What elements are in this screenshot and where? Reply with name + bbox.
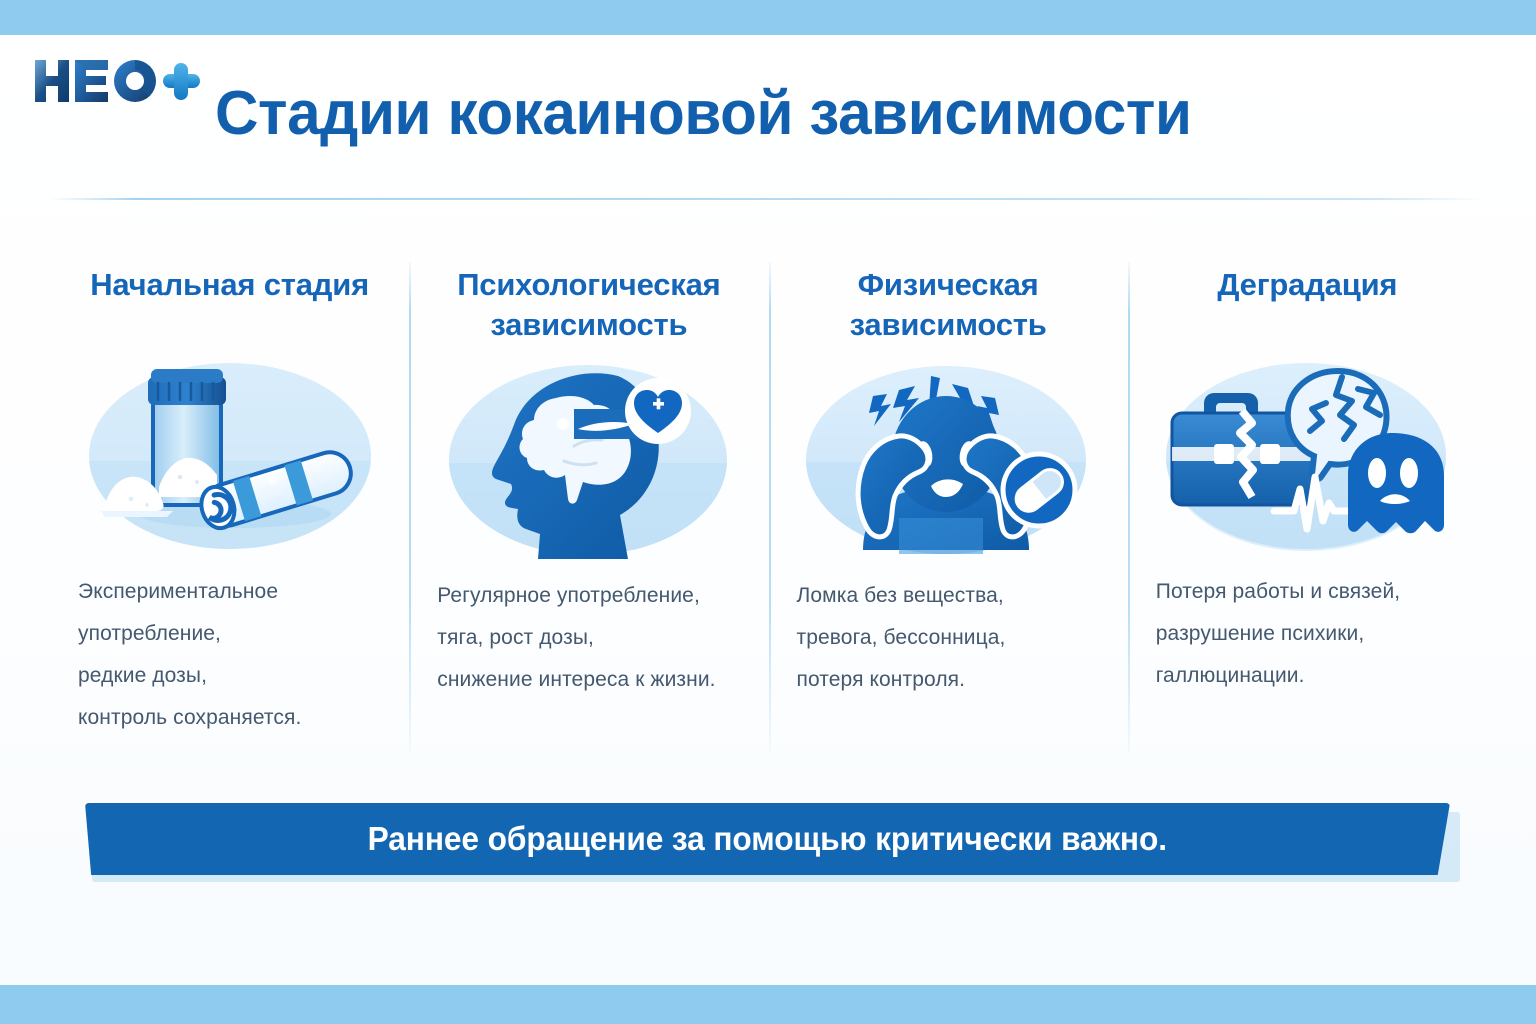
stage-4-line-2: разрушение психики, (1156, 613, 1465, 655)
stage-2-line-1: Регулярное употребление, (437, 575, 746, 617)
stage-3-line-1: Ломка без вещества, (797, 575, 1106, 617)
stage-description-2: Регулярное употребление, тяга, рост дозы… (431, 575, 746, 701)
stage-heading-1: Начальная стадия (72, 255, 387, 341)
stage-1-line-4: контроль сохраняется. (78, 697, 387, 739)
infographic-page: Стадии кокаиновой зависимости Начальная … (0, 0, 1536, 1024)
stage-column-4: Деградация (1128, 255, 1487, 760)
page-title: Стадии кокаиновой зависимости (215, 77, 1282, 151)
stage-column-3: Физическая зависимость (769, 255, 1128, 760)
stage-1-line-2: употребление, (78, 613, 387, 655)
stage-1-line-3: редкие дозы, (78, 655, 387, 697)
head-brain-heart-icon (446, 353, 731, 568)
stage-illustration-2 (431, 345, 746, 575)
stage-2-line-2: тяга, рост дозы, (437, 617, 746, 659)
stage-heading-2: Психологическая зависимость (431, 255, 746, 345)
stage-column-1: Начальная стадия (50, 255, 409, 760)
stage-illustration-3 (791, 345, 1106, 575)
banner-text: Раннее обращение за помощью критически в… (368, 820, 1167, 858)
headache-person-pill-icon (803, 350, 1093, 570)
top-accent-bar (0, 0, 1536, 35)
stage-description-3: Ломка без вещества, тревога, бессонница,… (791, 575, 1106, 701)
stage-4-line-3: галлюцинации. (1156, 655, 1465, 697)
stage-column-2: Психологическая зависимость (409, 255, 768, 760)
stage-3-line-3: потеря контроля. (797, 659, 1106, 701)
stage-description-1: Экспериментальное употребление, редкие д… (72, 571, 387, 739)
stages-container: Начальная стадия (50, 255, 1487, 760)
stage-2-line-3: снижение интереса к жизни. (437, 659, 746, 701)
stage-illustration-1 (72, 341, 387, 571)
stage-3-line-2: тревога, бессонница, (797, 617, 1106, 659)
title-divider (50, 198, 1487, 200)
stage-illustration-4 (1150, 341, 1465, 571)
call-to-action-banner[interactable]: Раннее обращение за помощью критически в… (85, 803, 1450, 875)
bottom-accent-bar (0, 985, 1536, 1024)
neo-plus-logo[interactable] (27, 52, 202, 110)
stage-heading-3: Физическая зависимость (791, 255, 1106, 345)
stage-description-4: Потеря работы и связей, разрушение психи… (1150, 571, 1465, 697)
stage-4-line-1: Потеря работы и связей, (1156, 571, 1465, 613)
stage-1-line-1: Экспериментальное (78, 571, 387, 613)
broken-briefcase-brain-ghost-icon (1162, 349, 1452, 564)
pill-bottle-powder-icon (85, 349, 375, 564)
stage-heading-4: Деградация (1150, 255, 1465, 341)
